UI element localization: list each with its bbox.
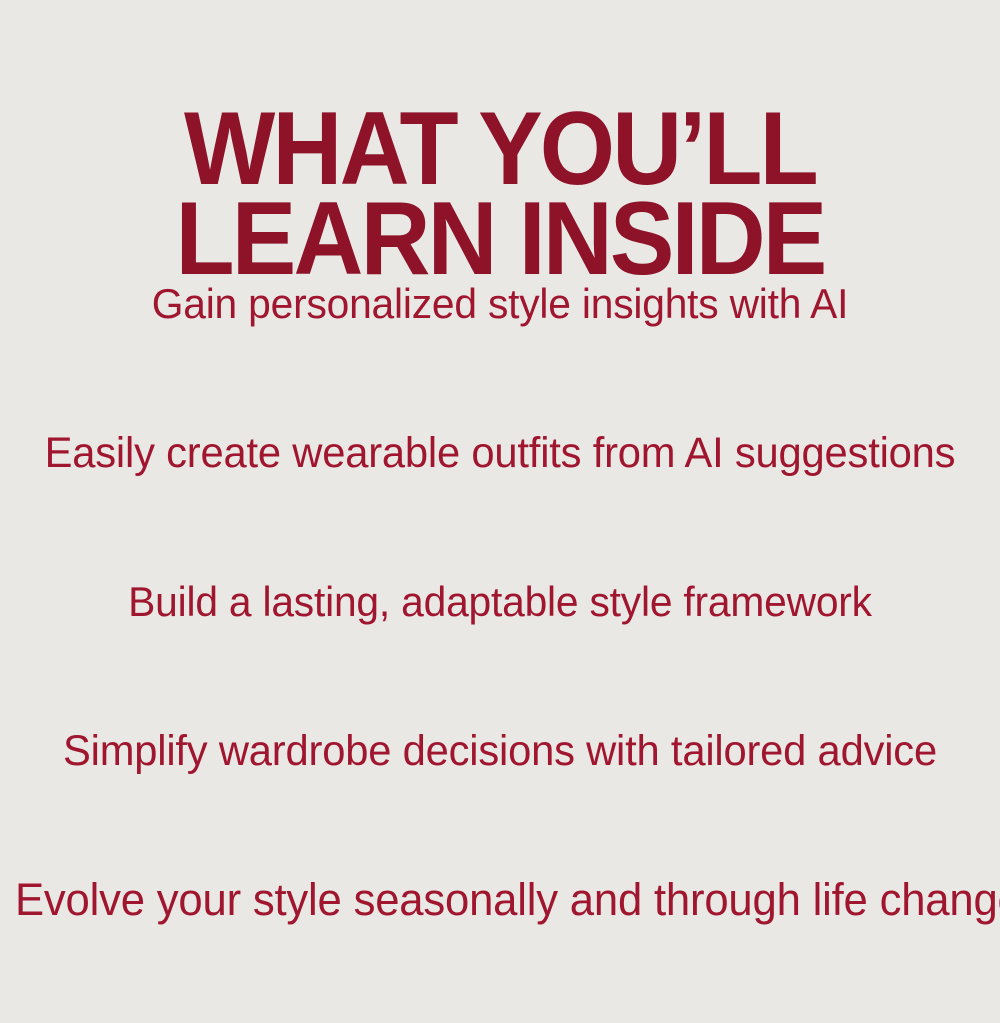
- list-item: Gain personalized style insights with AI: [0, 278, 1000, 427]
- promo-slide: WHAT YOU’LL LEARN INSIDE Gain personaliz…: [0, 0, 1000, 1000]
- benefit-text: Evolve your style seasonally and through…: [15, 874, 985, 926]
- list-item: Easily create wearable outfits from AI s…: [0, 427, 1000, 576]
- page-title-line-2: LEARN INSIDE: [35, 194, 965, 284]
- benefits-list: Gain personalized style insights with AI…: [0, 278, 1000, 1023]
- benefit-text: Build a lasting, adaptable style framewo…: [15, 576, 985, 628]
- list-item: Build a lasting, adaptable style framewo…: [0, 576, 1000, 725]
- list-item: Evolve your style seasonally and through…: [0, 874, 1000, 1023]
- list-item: Simplify wardrobe decisions with tailore…: [0, 725, 1000, 874]
- benefit-text: Easily create wearable outfits from AI s…: [15, 427, 985, 479]
- benefit-text: Simplify wardrobe decisions with tailore…: [15, 725, 985, 777]
- page-title: WHAT YOU’LL LEARN INSIDE: [35, 104, 965, 284]
- benefit-text: Gain personalized style insights with AI: [15, 278, 985, 330]
